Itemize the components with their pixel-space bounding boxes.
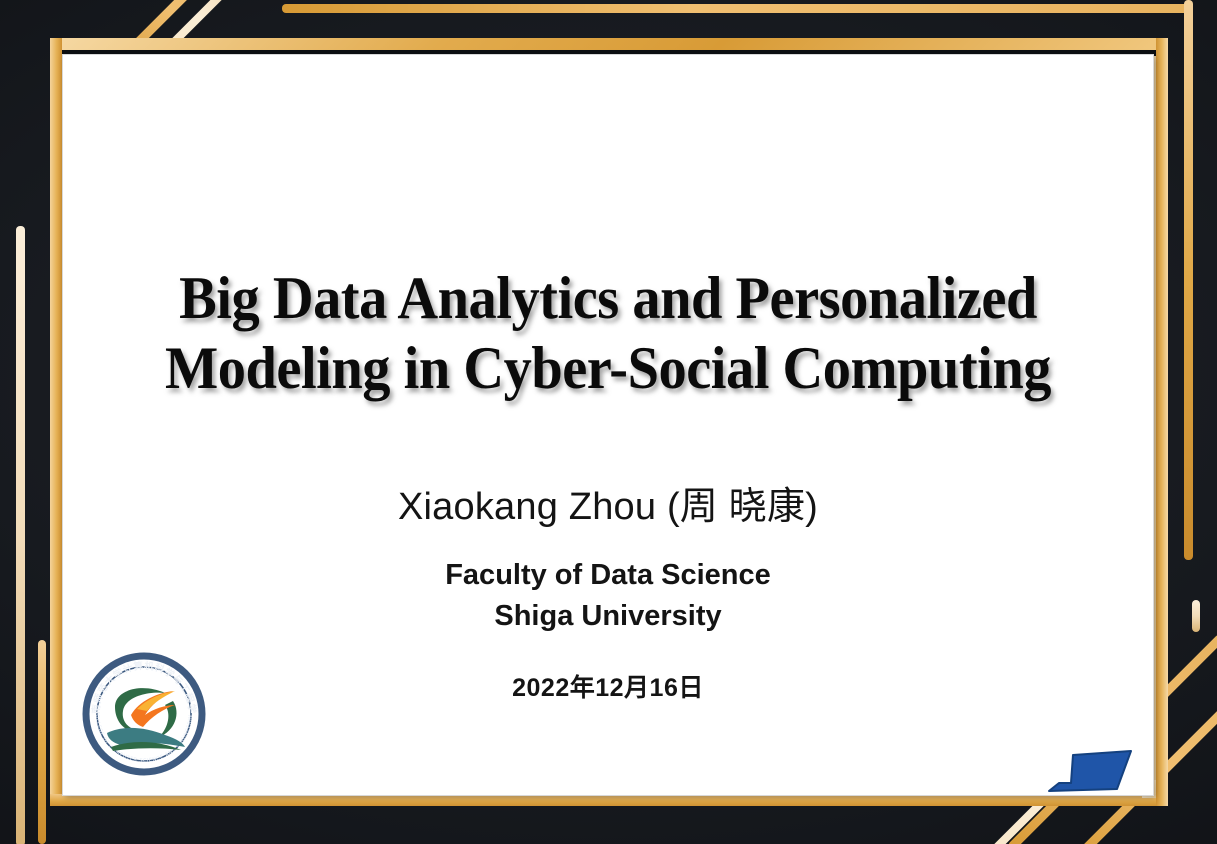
slide-canvas: Big Data Analytics and Personalized Mode… bbox=[63, 55, 1153, 795]
presentation-date: 2022年12月16日 bbox=[63, 668, 1153, 704]
frame-band-left bbox=[50, 38, 62, 806]
title-line-1: Big Data Analytics and Personalized bbox=[96, 263, 1121, 333]
affiliation-line-2: Shiga University bbox=[63, 596, 1153, 637]
slide-stage: Big Data Analytics and Personalized Mode… bbox=[0, 0, 1217, 844]
title-line-2: Modeling in Cyber-Social Computing bbox=[96, 333, 1121, 403]
affiliation-block: Faculty of Data Science Shiga University bbox=[63, 555, 1153, 637]
slide-title: Big Data Analytics and Personalized Mode… bbox=[63, 263, 1153, 403]
frame-band-top bbox=[50, 38, 1168, 50]
university-seal-logo: 湖南师范大学计算机科学与工程学院 COLLEGE OF COMPUTER SCI… bbox=[81, 651, 207, 777]
author-name: Xiaokang Zhou (周 晓康) bbox=[63, 475, 1153, 530]
frame-band-right bbox=[1156, 38, 1168, 806]
frame-band-bottom bbox=[50, 794, 1168, 806]
blue-trapezoid-graphic bbox=[1047, 749, 1133, 795]
affiliation-line-1: Faculty of Data Science bbox=[63, 555, 1153, 596]
